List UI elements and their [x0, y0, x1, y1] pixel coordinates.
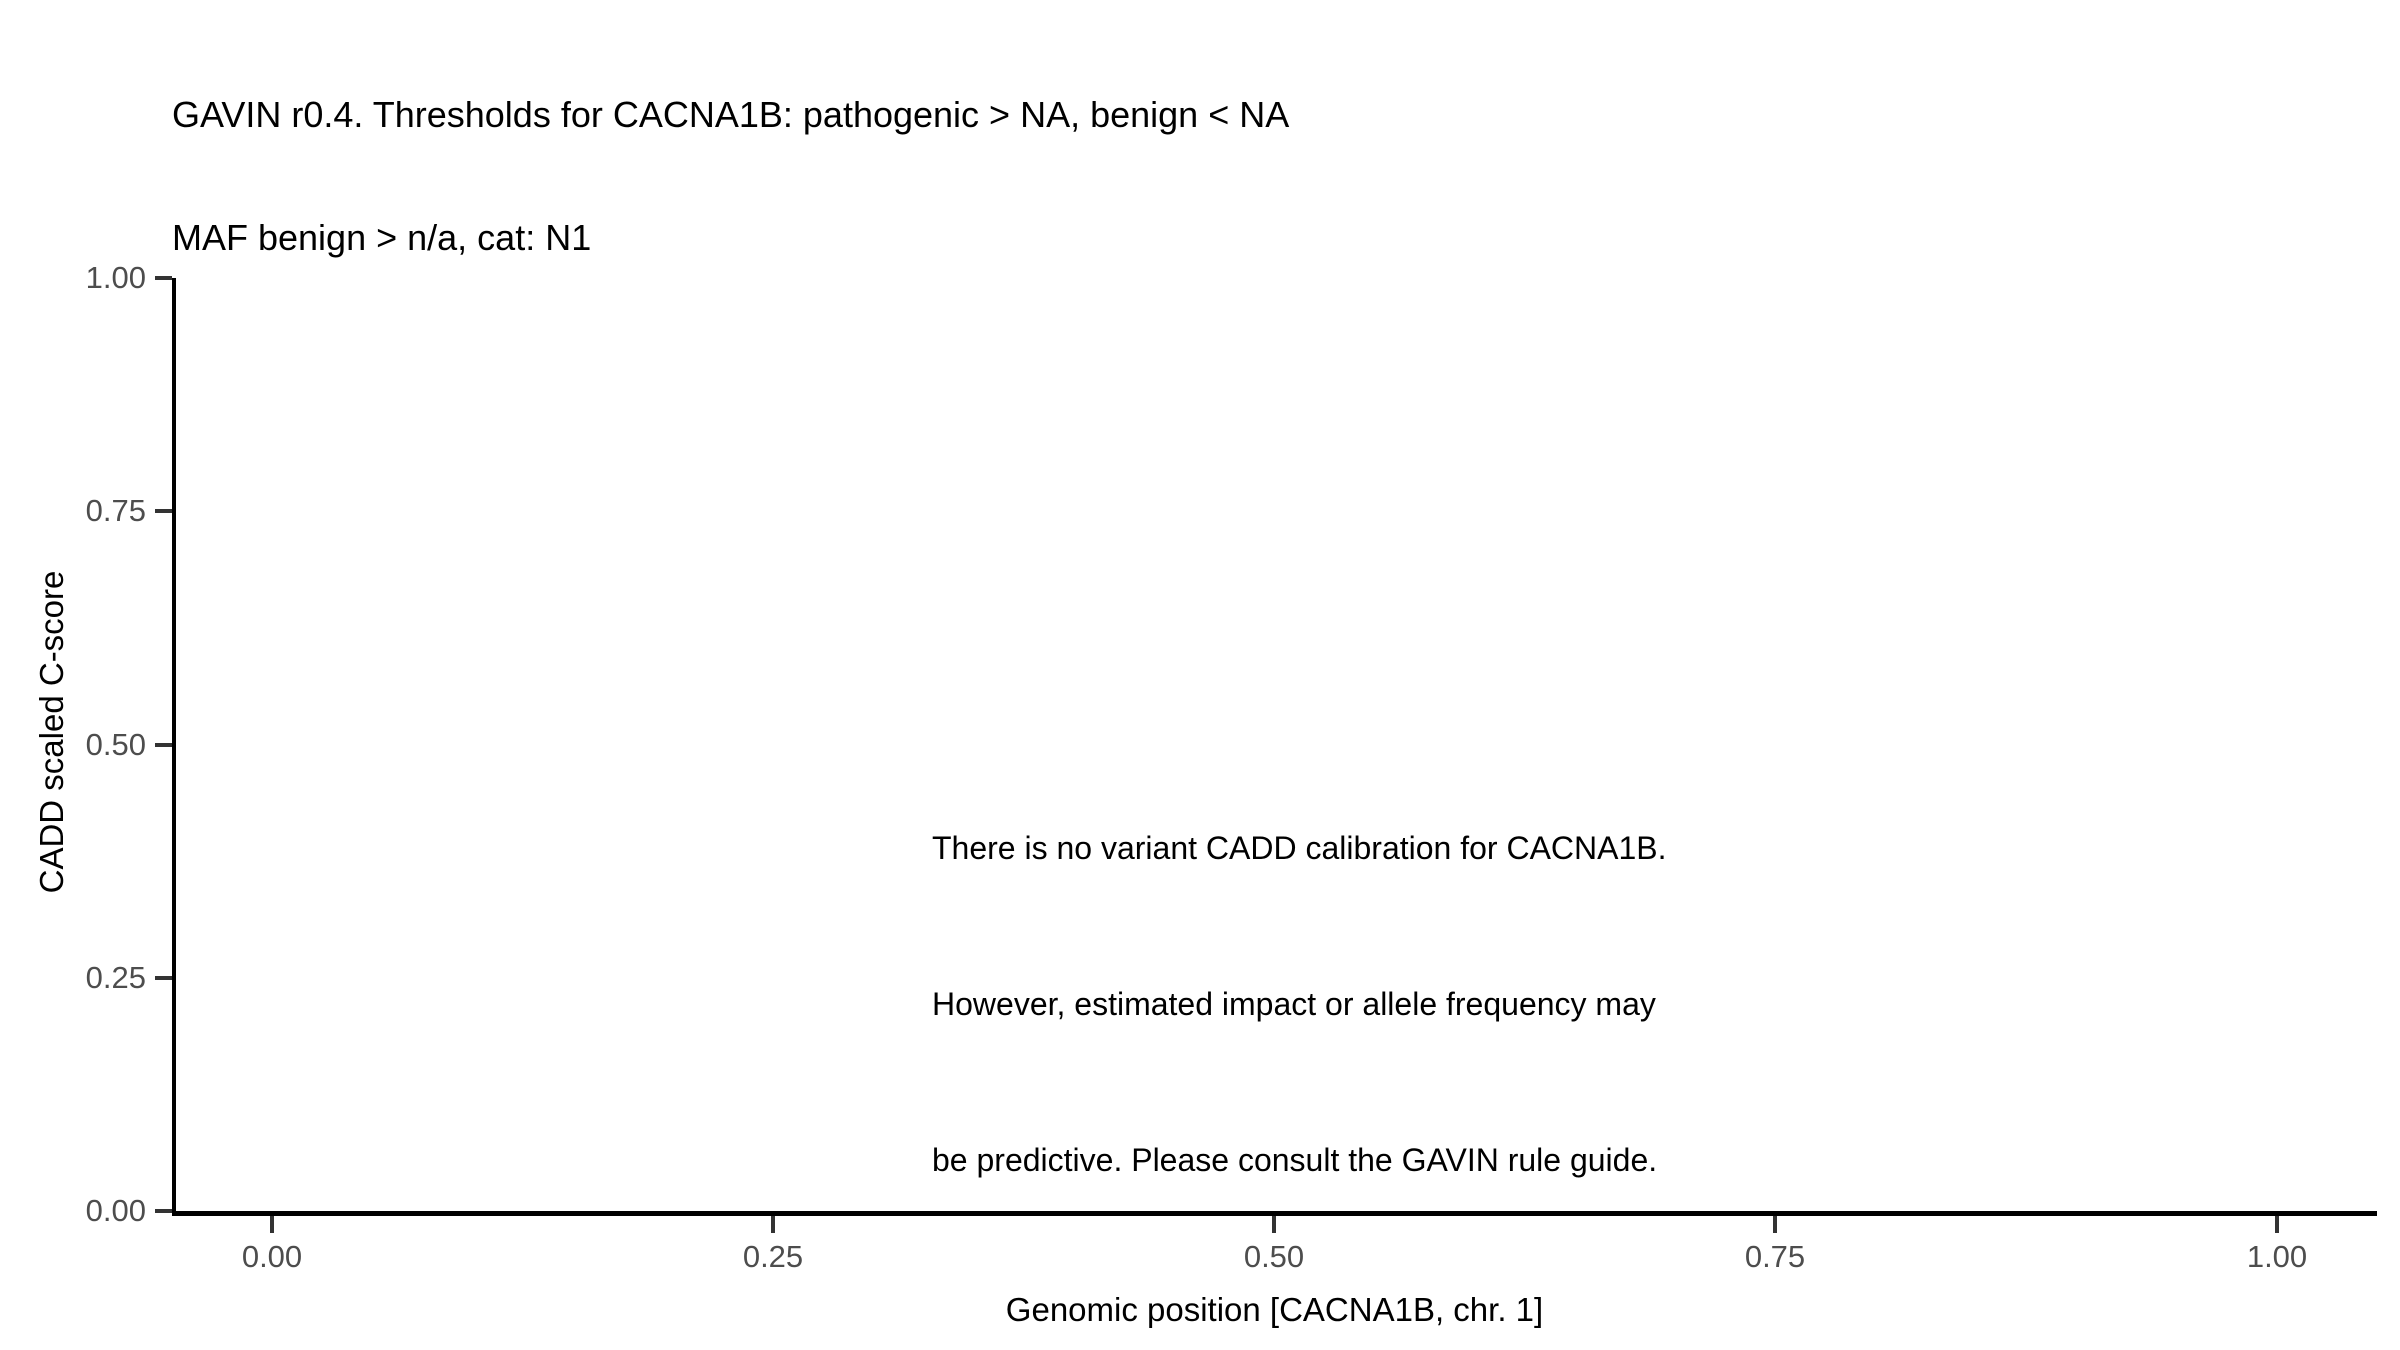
- plot-annotation-line-2: However, estimated impact or allele freq…: [932, 978, 2032, 1030]
- y-tick-label-5: 0.00: [86, 1194, 146, 1228]
- x-tick-label-5: 1.00: [2177, 1240, 2377, 1274]
- chart-figure: GAVIN r0.4. Thresholds for CACNA1B: path…: [0, 0, 2400, 1350]
- x-tick-mark-3: [1272, 1216, 1276, 1233]
- x-axis-title: Genomic position [CACNA1B, chr. 1]: [172, 1292, 2377, 1328]
- plot-annotation-line-3: be predictive. Please consult the GAVIN …: [932, 1134, 2032, 1186]
- plot-annotation: There is no variant CADD calibration for…: [932, 718, 2032, 1290]
- x-tick-mark-5: [2275, 1216, 2279, 1233]
- y-axis-line: [172, 278, 176, 1216]
- y-tick-label-3: 0.50: [86, 728, 146, 762]
- plot-annotation-line-1: There is no variant CADD calibration for…: [932, 822, 2032, 874]
- chart-title-line-2: MAF benign > n/a, cat: N1: [172, 217, 2372, 258]
- y-tick-label-1: 1.00: [86, 261, 146, 295]
- x-tick-mark-1: [270, 1216, 274, 1233]
- y-tick-mark-3: [155, 743, 172, 747]
- y-tick-mark-4: [155, 976, 172, 980]
- y-tick-label-4: 0.25: [86, 961, 146, 995]
- y-axis-title: CADD scaled C-score: [34, 452, 70, 1012]
- plot-panel: There is no variant CADD calibration for…: [172, 278, 2377, 1213]
- y-tick-mark-1: [155, 276, 172, 280]
- x-tick-label-1: 0.00: [172, 1240, 372, 1274]
- chart-title-line-1: GAVIN r0.4. Thresholds for CACNA1B: path…: [172, 94, 2372, 135]
- x-tick-label-3: 0.50: [1174, 1240, 1374, 1274]
- y-tick-mark-2: [155, 509, 172, 513]
- y-tick-label-2: 0.75: [86, 494, 146, 528]
- y-tick-mark-5: [155, 1209, 172, 1213]
- x-tick-mark-4: [1773, 1216, 1777, 1233]
- x-tick-label-4: 0.75: [1675, 1240, 1875, 1274]
- x-tick-label-2: 0.25: [673, 1240, 873, 1274]
- x-tick-mark-2: [771, 1216, 775, 1233]
